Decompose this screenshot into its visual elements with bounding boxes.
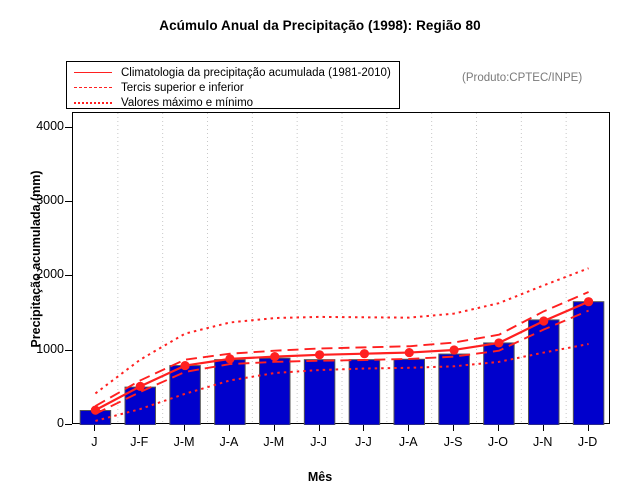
legend-swatch-dashed-line [73,82,113,94]
plot-area [72,112,610,424]
x-axis-tick-mark [588,424,589,431]
y-axis-tick-label: 4000 [18,119,64,133]
chart-canvas [73,113,611,425]
x-axis-tick-mark [274,424,275,431]
page-title: Acúmulo Anual da Precipitação (1998): Re… [0,18,640,33]
chart-page: Acúmulo Anual da Precipitação (1998): Re… [0,0,640,500]
x-axis-tick-mark [453,424,454,431]
y-axis-tick-label: 2000 [18,267,64,281]
legend-item-tercis: Tercis superior e inferior [73,81,393,95]
legend-item-valores: Valores máximo e mínimo [73,96,393,110]
y-axis-tick-label: 1000 [18,342,64,356]
x-axis-tick-label: J-D [558,435,618,449]
x-axis-tick-mark [543,424,544,431]
product-attribution: (Produto:CPTEC/INPE) [462,72,582,84]
legend: Climatologia da precipitação acumulada (… [66,61,400,109]
y-axis-tick-label: 3000 [18,193,64,207]
x-axis-tick-mark [229,424,230,431]
y-axis-tick-mark [65,424,72,425]
y-axis-tick-label: 0 [18,416,64,430]
y-axis-title: Precipitação acumulada (mm) [29,119,43,399]
x-axis-tick-mark [94,424,95,431]
legend-label: Valores máximo e mínimo [121,97,253,109]
x-axis-tick-mark [319,424,320,431]
y-axis-tick-mark [65,127,72,128]
legend-swatch-dotted-line [73,97,113,109]
legend-label: Tercis superior e inferior [121,82,244,94]
x-axis-tick-mark [498,424,499,431]
x-axis-tick-mark [363,424,364,431]
x-axis-title: Mês [0,470,640,484]
y-axis-tick-mark [65,350,72,351]
x-axis-tick-mark [184,424,185,431]
legend-item-climatologia: Climatologia da precipitação acumulada (… [73,66,393,80]
legend-label: Climatologia da precipitação acumulada (… [121,67,391,79]
legend-swatch-solid-line [73,67,113,79]
x-axis-tick-mark [139,424,140,431]
y-axis-tick-mark [65,201,72,202]
y-axis-tick-mark [65,275,72,276]
x-axis-tick-mark [408,424,409,431]
